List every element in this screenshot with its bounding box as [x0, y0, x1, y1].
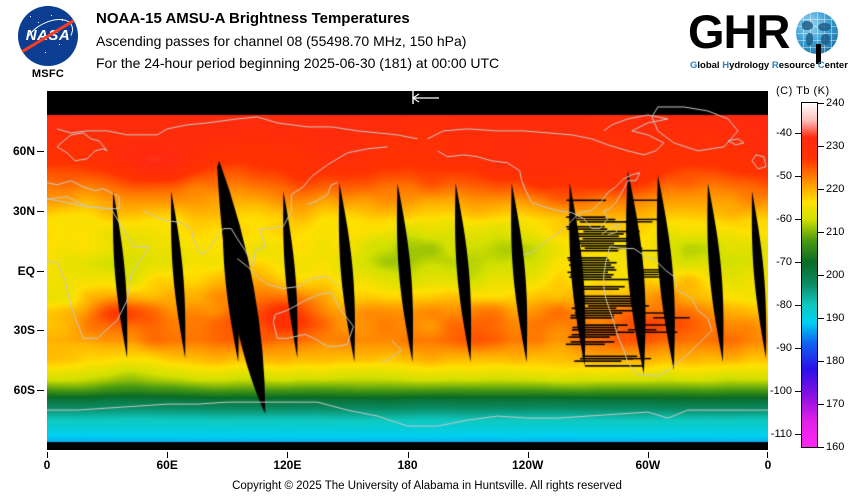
colorbar-kelvin-label: 170: [826, 398, 844, 410]
latitude-label: 60S: [14, 383, 35, 397]
colorbar-kelvin-label: 180: [826, 355, 844, 367]
latitude-tick: [37, 211, 44, 212]
latitude-label: 30S: [14, 323, 35, 337]
colorbar-celsius-label: -80: [776, 299, 792, 311]
colorbar-kelvin-tick: [818, 447, 824, 448]
colorbar-celsius-label: -110: [771, 428, 792, 440]
longitude-axis: 060E120E180120W60W0: [47, 452, 768, 478]
colorbar-kelvin-tick: [818, 103, 824, 104]
colorbar-kelvin-label: 210: [826, 226, 844, 238]
colorbar-celsius-label: -100: [770, 385, 792, 397]
latitude-tick: [37, 330, 44, 331]
colorbar-kelvin-tick: [818, 318, 824, 319]
latitude-axis: 60N30NEQ30S60S: [0, 91, 44, 450]
ghrc-logo: GHR Global Hydrology Resource Center: [688, 6, 844, 80]
colorbar-kelvin-tick: [818, 275, 824, 276]
colorbar-kelvin-tick: [818, 189, 824, 190]
colorbar-celsius-label: -40: [776, 127, 792, 139]
colorbar-kelvin-axis: 240230220210200190180170160: [818, 102, 854, 448]
colorbar-kelvin-label: 160: [826, 441, 844, 453]
longitude-label: 0: [44, 458, 51, 472]
latitude-label: 30N: [13, 204, 35, 218]
latitude-tick: [37, 151, 44, 152]
nasa-center-label: MSFC: [12, 68, 84, 80]
colorbar-celsius-tick: [795, 133, 801, 134]
latitude-tick: [37, 390, 44, 391]
longitude-label: 120W: [512, 458, 543, 472]
latitude-label: EQ: [18, 264, 35, 278]
brightness-temperature-map: [47, 91, 768, 450]
nasa-meatball-icon: NASA: [18, 6, 78, 66]
latitude-label: 60N: [13, 144, 35, 158]
colorbar-celsius-tick: [795, 176, 801, 177]
title-block: NOAA-15 AMSU-A Brightness Temperatures A…: [96, 8, 676, 74]
colorbar-celsius-tick: [795, 262, 801, 263]
colorbar-celsius-tick: [795, 348, 801, 349]
longitude-label: 60W: [635, 458, 660, 472]
colorbar-kelvin-tick: [818, 232, 824, 233]
colorbar-celsius-axis: -40-50-60-70-80-90-100-110: [762, 102, 801, 448]
colorbar-kelvin-tick: [818, 404, 824, 405]
colorbar-kelvin-tick: [818, 361, 824, 362]
colorbar-celsius-tick: [795, 391, 801, 392]
nasa-logo: NASA MSFC: [12, 6, 84, 84]
colorbar-celsius-tick: [795, 219, 801, 220]
colorbar-celsius-label: -90: [776, 342, 792, 354]
colorbar-celsius-tick: [795, 305, 801, 306]
colorbar-celsius-label: -70: [776, 256, 792, 268]
colorbar-celsius-label: -60: [776, 213, 792, 225]
longitude-label: 60E: [156, 458, 177, 472]
longitude-label: 180: [397, 458, 417, 472]
page-header: NASA MSFC NOAA-15 AMSU-A Brightness Temp…: [0, 0, 854, 88]
copyright-notice: Copyright © 2025 The University of Alaba…: [0, 480, 854, 492]
page-title: NOAA-15 AMSU-A Brightness Temperatures: [96, 8, 676, 30]
longitude-label: 120E: [273, 458, 301, 472]
page-subtitle-1: Ascending passes for channel 08 (55498.7…: [96, 30, 676, 52]
colorbar-celsius-tick: [795, 434, 801, 435]
colorbar-kelvin-label: 220: [826, 183, 844, 195]
colorbar-kelvin-label: 190: [826, 312, 844, 324]
page-subtitle-2: For the 24-hour period beginning 2025-06…: [96, 52, 676, 74]
colorbar-header: (C) Tb (K): [776, 85, 854, 97]
colorbar-gradient: [801, 102, 818, 448]
longitude-label: 0: [765, 458, 772, 472]
colorbar-kelvin-label: 200: [826, 269, 844, 281]
colorbar-kelvin-label: 230: [826, 140, 844, 152]
latitude-tick: [37, 271, 44, 272]
ghrc-tagline: Global Hydrology Resource Center: [690, 60, 844, 72]
colorbar-celsius-label: -50: [776, 170, 792, 182]
colorbar-kelvin-tick: [818, 146, 824, 147]
colorbar-kelvin-label: 240: [826, 97, 844, 109]
scan-start-marker-icon: [47, 91, 768, 450]
